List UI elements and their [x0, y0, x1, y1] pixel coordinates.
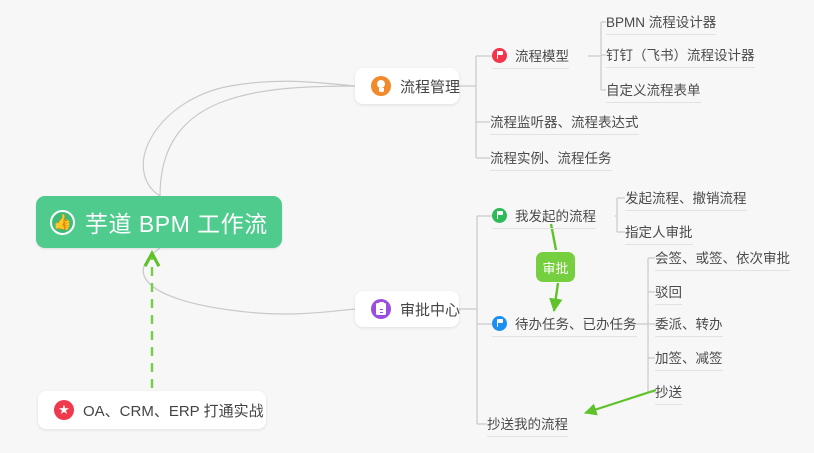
node-carbon-copy-label: 抄送 — [655, 381, 682, 401]
link-root-to-approval-ctr — [143, 248, 355, 314]
node-bpmn-designer[interactable]: BPMN 流程设计器 — [606, 9, 716, 35]
node-custom-form[interactable]: 自定义流程表单 — [606, 77, 701, 103]
flag-icon-blue — [492, 316, 507, 331]
star-icon — [54, 400, 74, 420]
node-process-instance-label: 流程实例、流程任务 — [490, 147, 612, 167]
node-assignee-approval-label: 指定人审批 — [625, 221, 693, 241]
clipboard-icon — [371, 299, 391, 319]
node-my-flows[interactable]: 我发起的流程 — [492, 203, 596, 229]
node-my-flows-label: 我发起的流程 — [515, 205, 596, 225]
standalone-node-integration[interactable]: OA、CRM、ERP 打通实战 — [38, 391, 266, 429]
node-dingtalk-designer-label: 钉钉（飞书）流程设计器 — [606, 44, 755, 64]
node-add-remove-sign[interactable]: 加签、减签 — [655, 345, 723, 371]
standalone-node-integration-label: OA、CRM、ERP 打通实战 — [83, 400, 264, 421]
branch-node-process-management[interactable]: 流程管理 — [355, 68, 459, 104]
node-reject[interactable]: 驳回 — [655, 279, 682, 305]
node-delegate-transfer-label: 委派、转办 — [655, 313, 723, 333]
approval-badge-label: 审批 — [542, 258, 568, 277]
node-countersign[interactable]: 会签、或签、依次审批 — [655, 245, 790, 271]
node-delegate-transfer[interactable]: 委派、转办 — [655, 311, 723, 337]
branch-label-process-management: 流程管理 — [400, 76, 460, 97]
node-start-cancel-flow[interactable]: 发起流程、撤销流程 — [625, 185, 747, 211]
node-process-model[interactable]: 流程模型 — [492, 43, 569, 69]
node-process-model-label: 流程模型 — [515, 45, 569, 65]
flag-icon-green — [492, 208, 507, 223]
node-assignee-approval[interactable]: 指定人审批 — [625, 219, 693, 245]
node-custom-form-label: 自定义流程表单 — [606, 79, 701, 99]
branch-node-approval-center[interactable]: 审批中心 — [355, 291, 459, 327]
root-node[interactable]: 芋道 BPM 工作流 — [36, 196, 282, 248]
arrow-cc-to-cc-flows — [585, 390, 656, 413]
node-todo-tasks[interactable]: 待办任务、已办任务 — [492, 311, 637, 337]
node-process-listener-label: 流程监听器、流程表达式 — [490, 111, 639, 131]
approval-badge[interactable]: 审批 — [536, 252, 575, 282]
node-process-listener[interactable]: 流程监听器、流程表达式 — [490, 109, 639, 135]
node-carbon-copy[interactable]: 抄送 — [655, 379, 682, 405]
node-todo-tasks-label: 待办任务、已办任务 — [515, 313, 637, 333]
link-root-to-process-mgmt — [160, 86, 355, 196]
thumbs-up-icon — [50, 210, 75, 235]
root-node-label: 芋道 BPM 工作流 — [85, 205, 268, 239]
branch-label-approval-center: 审批中心 — [400, 299, 460, 320]
node-reject-label: 驳回 — [655, 281, 682, 301]
mindmap-canvas: 芋道 BPM 工作流 流程管理 流程模型 流程监听器、流程表达式 流程实例、流程… — [0, 0, 814, 453]
lightbulb-icon — [371, 76, 391, 96]
node-dingtalk-designer[interactable]: 钉钉（飞书）流程设计器 — [606, 42, 755, 68]
node-start-cancel-flow-label: 发起流程、撤销流程 — [625, 187, 747, 207]
node-bpmn-designer-label: BPMN 流程设计器 — [606, 11, 716, 31]
flag-icon-red — [492, 48, 507, 63]
node-process-instance[interactable]: 流程实例、流程任务 — [490, 145, 612, 171]
node-cc-my-flows-label: 抄送我的流程 — [487, 413, 568, 433]
node-add-remove-sign-label: 加签、减签 — [655, 347, 723, 367]
node-cc-my-flows[interactable]: 抄送我的流程 — [487, 411, 568, 437]
node-countersign-label: 会签、或签、依次审批 — [655, 247, 790, 267]
